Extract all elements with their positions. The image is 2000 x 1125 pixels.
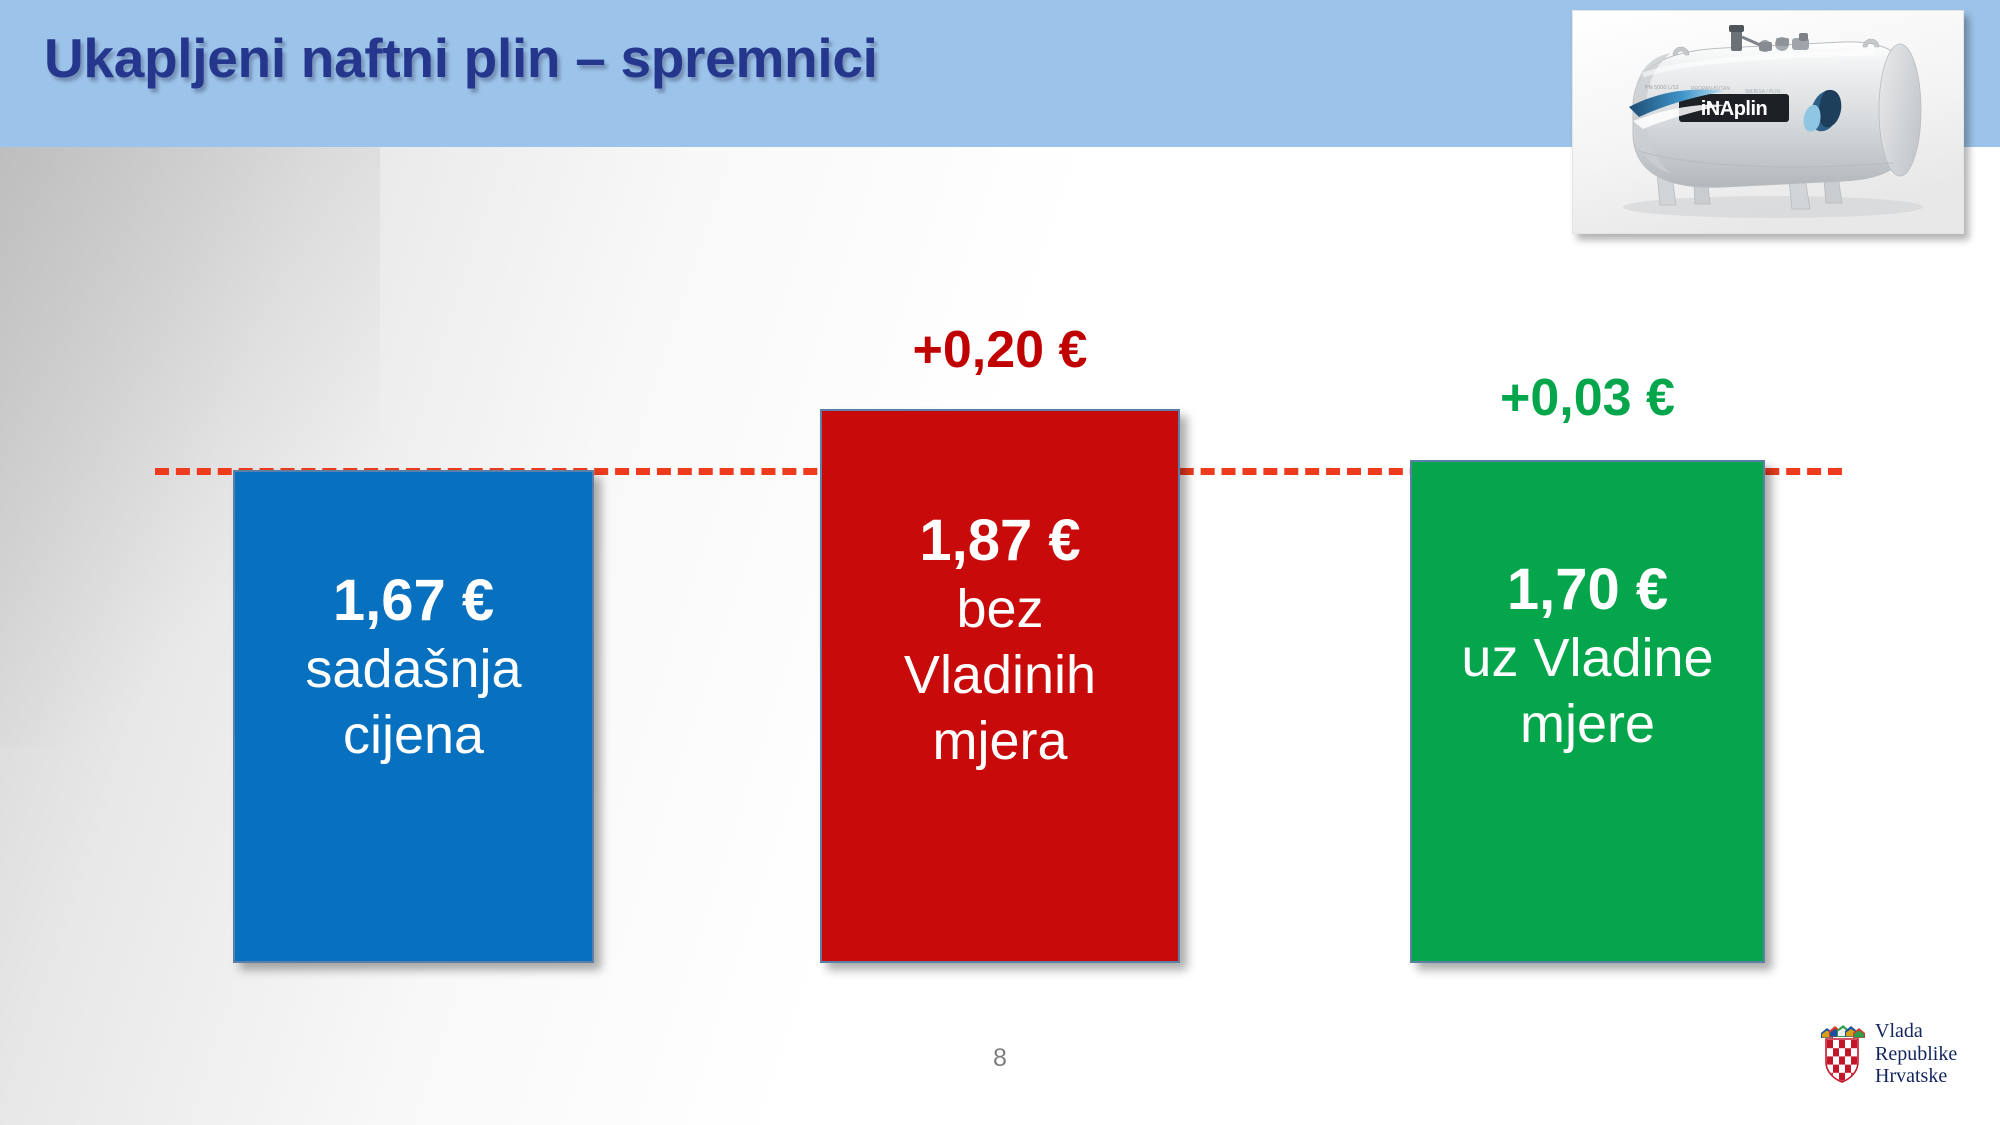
delta-label-with-measures: +0,03 €: [1410, 368, 1765, 428]
bar-without-measures-caption-line1: bez: [828, 577, 1172, 643]
bar-with-measures[interactable]: 1,70 € uz Vladine mjere: [1410, 460, 1765, 963]
government-logo-line3: Hrvatske: [1875, 1065, 1957, 1088]
bar-current-price[interactable]: 1,67 € sadašnja cijena: [233, 470, 594, 963]
bar-with-measures-value: 1,70 €: [1418, 555, 1757, 626]
bar-without-measures-caption-line3: mjera: [828, 709, 1172, 775]
bar-current-price-caption-line1: sadašnja: [241, 637, 586, 703]
bar-with-measures-caption-line1: uz Vladine: [1418, 626, 1757, 692]
bar-current-price-content: 1,67 € sadašnja cijena: [235, 566, 592, 769]
bar-without-measures-content: 1,87 € bez Vladinih mjera: [822, 506, 1178, 774]
bar-without-measures-value: 1,87 €: [828, 506, 1172, 577]
government-logo-line1: Vlada: [1875, 1020, 1957, 1043]
bar-without-measures-caption-line2: Vladinih: [828, 643, 1172, 709]
delta-label-without-measures: +0,20 €: [820, 320, 1180, 380]
government-logo-text: Vlada Republike Hrvatske: [1875, 1020, 1957, 1088]
bar-without-measures[interactable]: 1,87 € bez Vladinih mjera: [820, 409, 1180, 963]
bar-current-price-caption-line2: cijena: [241, 703, 586, 769]
slide-root: Ukapljeni naftni plin – spremnici: [0, 0, 2000, 1125]
bar-current-price-value: 1,67 €: [241, 566, 586, 637]
bar-chart: 1,67 € sadašnja cijena +0,20 € 1,87 € be…: [0, 0, 2000, 1125]
page-number: 8: [960, 1044, 1040, 1073]
government-logo: Vlada Republike Hrvatske: [1818, 1015, 1970, 1093]
bar-with-measures-content: 1,70 € uz Vladine mjere: [1412, 555, 1763, 758]
bar-with-measures-caption-line2: mjere: [1418, 692, 1757, 758]
croatian-coat-of-arms-icon: [1818, 1024, 1866, 1084]
government-logo-line2: Republike: [1875, 1043, 1957, 1066]
